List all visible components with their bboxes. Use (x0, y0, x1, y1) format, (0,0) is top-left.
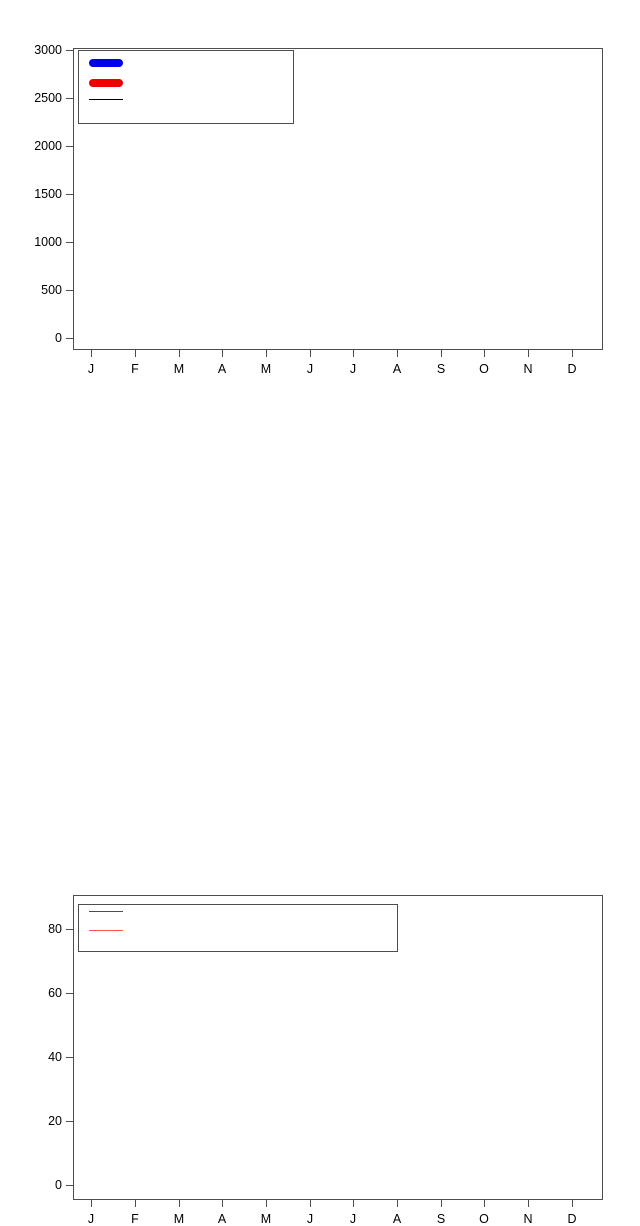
bottom-xtick-mark-apr (222, 1200, 223, 1207)
bottom-xtick-mark-may (266, 1200, 267, 1207)
bottom-xtick-jul: J (333, 1212, 373, 1226)
bottom-ytick-mark-20 (66, 1121, 73, 1122)
bottom-xtick-may: M (246, 1212, 286, 1226)
bottom-xtick-jan: J (71, 1212, 111, 1226)
bottom-ytick-mark-40 (66, 1057, 73, 1058)
bottom-legend-item-observed[interactable] (89, 911, 135, 912)
bottom-ytick-80: 80 (14, 922, 62, 936)
bottom-xtick-mark-jun (310, 1200, 311, 1207)
bottom-ytick-20: 20 (14, 1114, 62, 1128)
bottom-xtick-feb: F (115, 1212, 155, 1226)
bottom-xtick-mark-nov (528, 1200, 529, 1207)
bottom-xtick-mark-dec (572, 1200, 573, 1207)
daily-precipitation-panel: 80 60 40 20 0 J F M A M J J A S O N D (0, 425, 640, 850)
bottom-xtick-mark-jul (353, 1200, 354, 1207)
bottom-ytick-mark-0 (66, 1185, 73, 1186)
bottom-xtick-aug: A (377, 1212, 417, 1226)
bottom-xtick-mark-oct (484, 1200, 485, 1207)
bottom-xtick-mark-feb (135, 1200, 136, 1207)
bottom-xtick-mark-aug (397, 1200, 398, 1207)
bottom-legend (78, 904, 398, 952)
bottom-xtick-mark-jan (91, 1200, 92, 1207)
bottom-xtick-sep: S (421, 1212, 461, 1226)
bottom-ytick-60: 60 (14, 986, 62, 1000)
bottom-ytick-mark-60 (66, 993, 73, 994)
observed-line-swatch-icon (89, 911, 123, 912)
bottom-chart-svg (0, 0, 640, 850)
bottom-ytick-40: 40 (14, 1050, 62, 1064)
bottom-xtick-mar: M (159, 1212, 199, 1226)
daily-climatology-swatch-icon (89, 930, 123, 931)
bottom-xtick-jun: J (290, 1212, 330, 1226)
bottom-xtick-nov: N (508, 1212, 548, 1226)
bottom-ytick-mark-80 (66, 929, 73, 930)
bottom-legend-item-climatology[interactable] (89, 930, 135, 931)
bottom-xtick-dec: D (552, 1212, 592, 1226)
bottom-xtick-mark-sep (441, 1200, 442, 1207)
bottom-xtick-oct: O (464, 1212, 504, 1226)
bottom-ytick-0: 0 (14, 1178, 62, 1192)
bottom-xtick-apr: A (202, 1212, 242, 1226)
bottom-xtick-mark-mar (179, 1200, 180, 1207)
